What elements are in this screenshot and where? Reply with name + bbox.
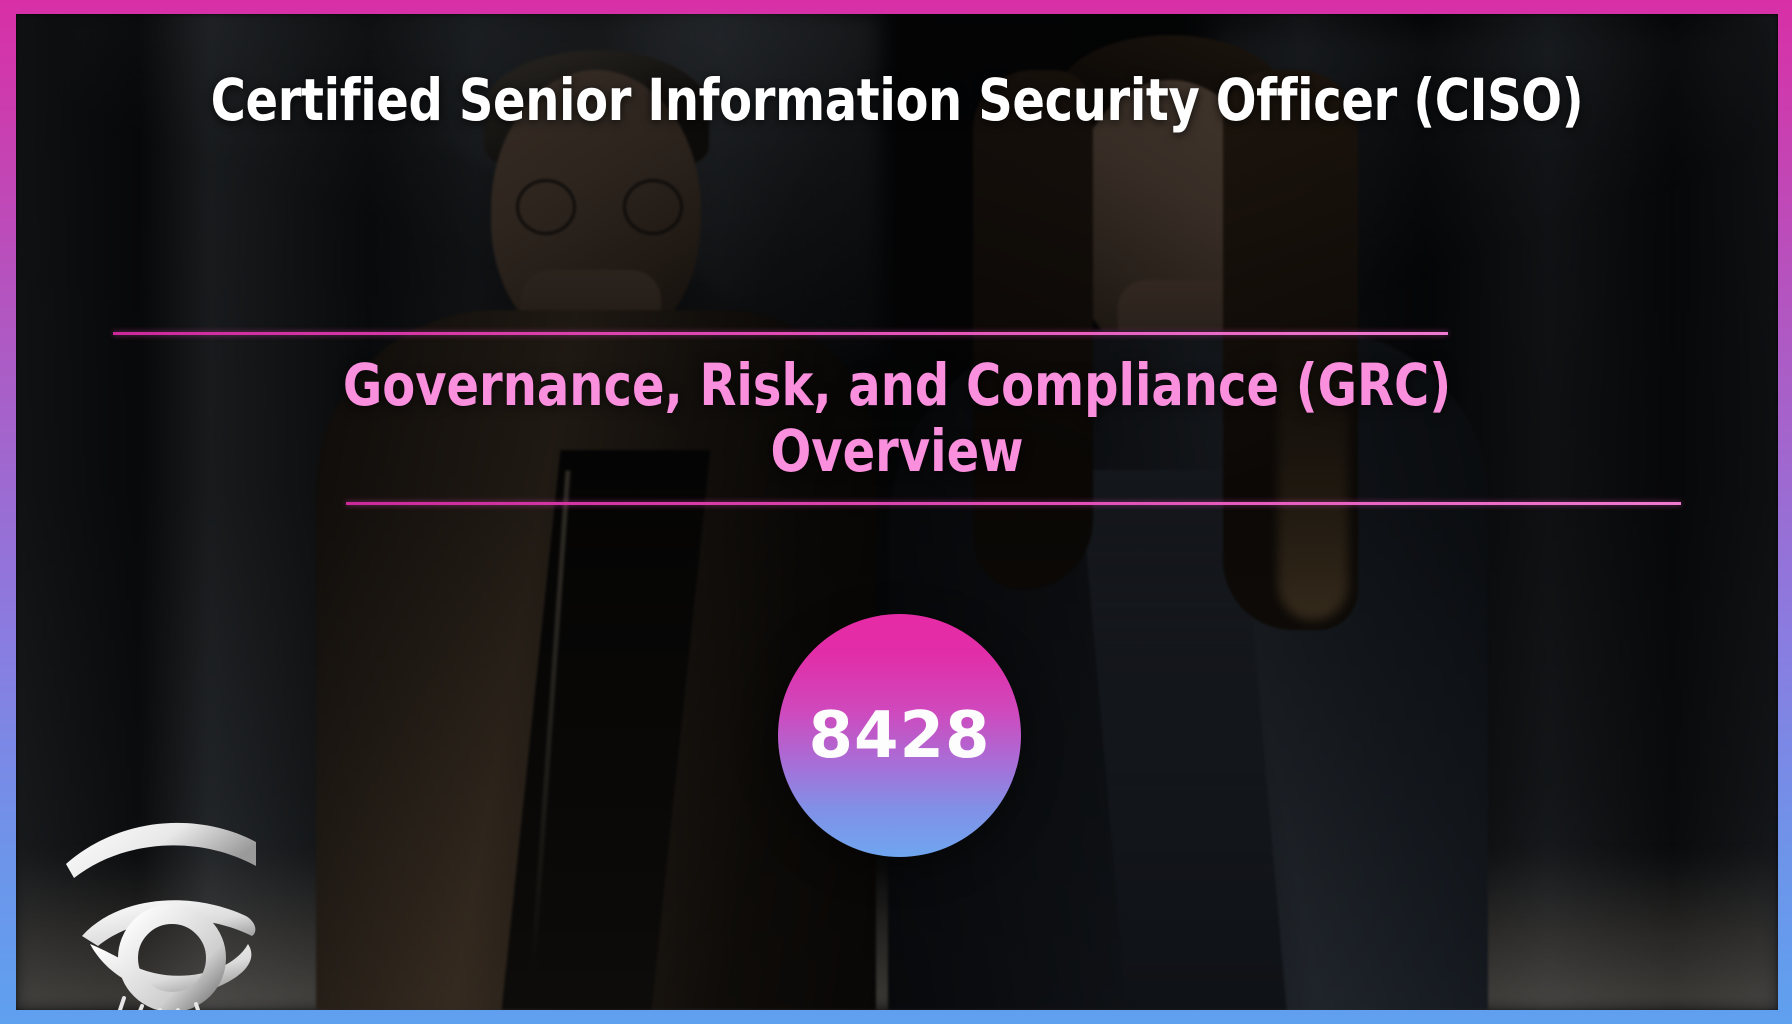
slide-content: Certified Senior Information Security Of… [16,14,1778,1010]
divider-bottom [346,502,1681,505]
page-subtitle: Governance, Risk, and Compliance (GRC) O… [86,352,1707,484]
divider-top [113,332,1448,335]
slide-frame: Certified Senior Information Security Of… [0,0,1792,1024]
lesson-number-badge: 8428 [778,614,1021,857]
lesson-number-text: 8428 [808,699,990,773]
eye-logo [60,786,260,1010]
slide-stage: Certified Senior Information Security Of… [16,14,1778,1010]
page-title: Certified Senior Information Security Of… [86,68,1707,133]
